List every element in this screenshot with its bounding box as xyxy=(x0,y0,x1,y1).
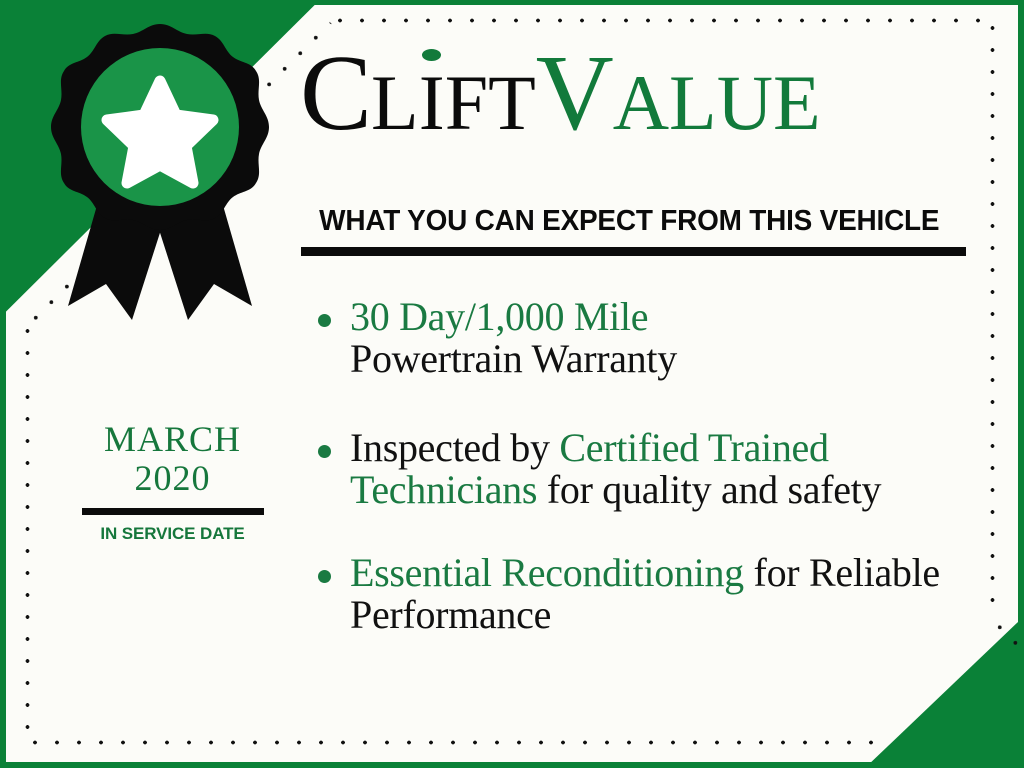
list-item: 30 Day/1,000 Mile Powertrain Warranty xyxy=(310,296,990,381)
clift-value-graphic: CLIFTVALUE WHAT YOU CAN EXPECT FROM THIS… xyxy=(0,0,1024,768)
bullet-dot-icon xyxy=(318,445,331,458)
dotted-border-right xyxy=(989,17,996,615)
in-service-date-block: MARCH 2020 IN SERVICE DATE xyxy=(60,420,285,544)
brand-ft: FT xyxy=(445,59,536,146)
date-year: 2020 xyxy=(60,459,285,498)
brand-v: V xyxy=(536,34,613,153)
subtitle-heading: WHAT YOU CAN EXPECT FROM THIS VEHICLE xyxy=(300,205,959,238)
bullet-dot-icon xyxy=(318,570,331,583)
dotted-border-bottom xyxy=(24,739,882,746)
award-ribbon-star-icon xyxy=(40,18,280,328)
dotted-border-left xyxy=(24,320,31,742)
bullet-2-tail: for quality and safety xyxy=(537,467,881,512)
bullet-dot-icon xyxy=(318,314,331,327)
bullet-3-green: Essential Reconditioning xyxy=(350,550,744,595)
bullet-1-black: Powertrain Warranty xyxy=(350,336,677,381)
list-item: Essential Reconditioning for Reliable Pe… xyxy=(310,552,990,637)
brand-c: C xyxy=(300,34,371,153)
date-underline xyxy=(82,508,264,515)
expectations-list: 30 Day/1,000 Mile Powertrain Warranty In… xyxy=(310,296,990,658)
brand-l: L xyxy=(371,59,419,146)
list-item: Inspected by Certified Trained Technicia… xyxy=(310,427,990,512)
bullet-1-green: 30 Day/1,000 Mile xyxy=(350,294,648,339)
date-month: MARCH xyxy=(60,420,285,459)
brand-i: I xyxy=(419,64,445,142)
brand-alue: ALUE xyxy=(613,59,821,146)
subtitle-underline xyxy=(301,247,966,256)
dotted-border-top xyxy=(329,17,989,24)
date-caption: IN SERVICE DATE xyxy=(60,524,285,544)
bullet-2-lead: Inspected by xyxy=(350,425,559,470)
brand-wordmark: CLIFTVALUE xyxy=(300,40,980,165)
